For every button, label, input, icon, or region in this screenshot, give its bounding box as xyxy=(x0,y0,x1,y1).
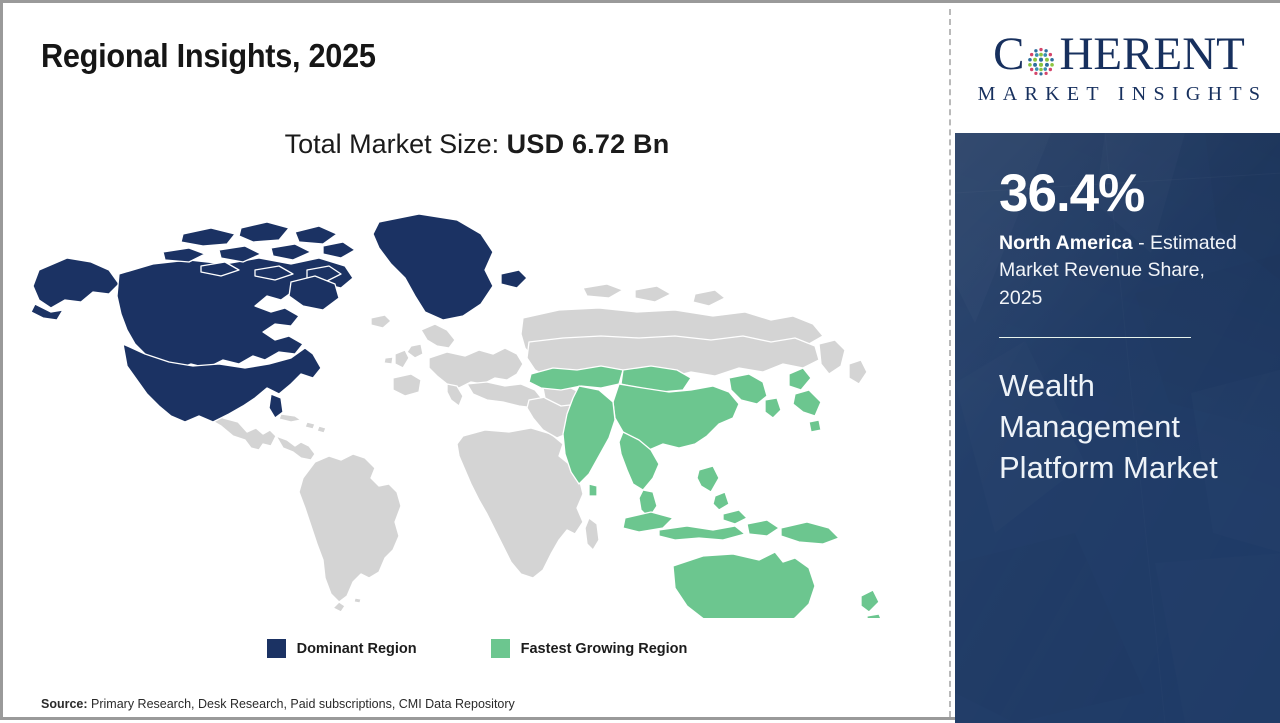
square-swatch-icon xyxy=(491,639,510,658)
regional-stat-panel: 36.4% North America - Estimated Market R… xyxy=(955,133,1280,723)
logo-letter-c: C xyxy=(993,31,1024,78)
logo-tagline: MARKET INSIGHTS xyxy=(971,83,1268,106)
regional-insights-infographic: Regional Insights, 2025 Total Market Siz… xyxy=(0,0,1280,720)
square-swatch-icon xyxy=(267,639,286,658)
legend-item-fastest-growing: Fastest Growing Region xyxy=(491,639,688,658)
dotted-globe-icon xyxy=(1024,40,1058,74)
panel-divider-rule xyxy=(999,337,1191,338)
source-note: Source: Primary Research, Desk Research,… xyxy=(41,697,515,711)
world-map xyxy=(23,178,923,618)
main-content-area: Regional Insights, 2025 Total Market Siz… xyxy=(3,3,951,717)
dotted-globe-svg xyxy=(1024,44,1058,78)
logo-wordmark: C xyxy=(993,31,1245,78)
legend-label-dominant: Dominant Region xyxy=(297,641,417,657)
stat-region-name: North America xyxy=(999,232,1133,254)
legend-label-fastest-growing: Fastest Growing Region xyxy=(521,641,688,657)
vertical-dashed-divider xyxy=(949,9,951,717)
map-legend: Dominant Region Fastest Growing Region xyxy=(3,639,951,658)
logo-letters-herent: HERENT xyxy=(1059,31,1244,78)
source-label: Source: xyxy=(41,697,88,711)
stat-percentage: 36.4% xyxy=(999,167,1253,222)
legend-item-dominant: Dominant Region xyxy=(267,639,417,658)
total-market-size: Total Market Size: USD 6.72 Bn xyxy=(3,129,951,160)
stat-description: North America - Estimated Market Revenue… xyxy=(999,230,1253,313)
total-market-size-label: Total Market Size: xyxy=(285,129,507,159)
total-market-size-value: USD 6.72 Bn xyxy=(507,129,670,159)
market-name: Wealth Management Platform Market xyxy=(999,365,1249,489)
page-title: Regional Insights, 2025 xyxy=(41,37,376,75)
source-text: Primary Research, Desk Research, Paid su… xyxy=(88,697,515,711)
world-map-svg xyxy=(23,178,923,618)
brand-logo: C xyxy=(955,3,1280,133)
panel-content: 36.4% North America - Estimated Market R… xyxy=(955,133,1280,488)
